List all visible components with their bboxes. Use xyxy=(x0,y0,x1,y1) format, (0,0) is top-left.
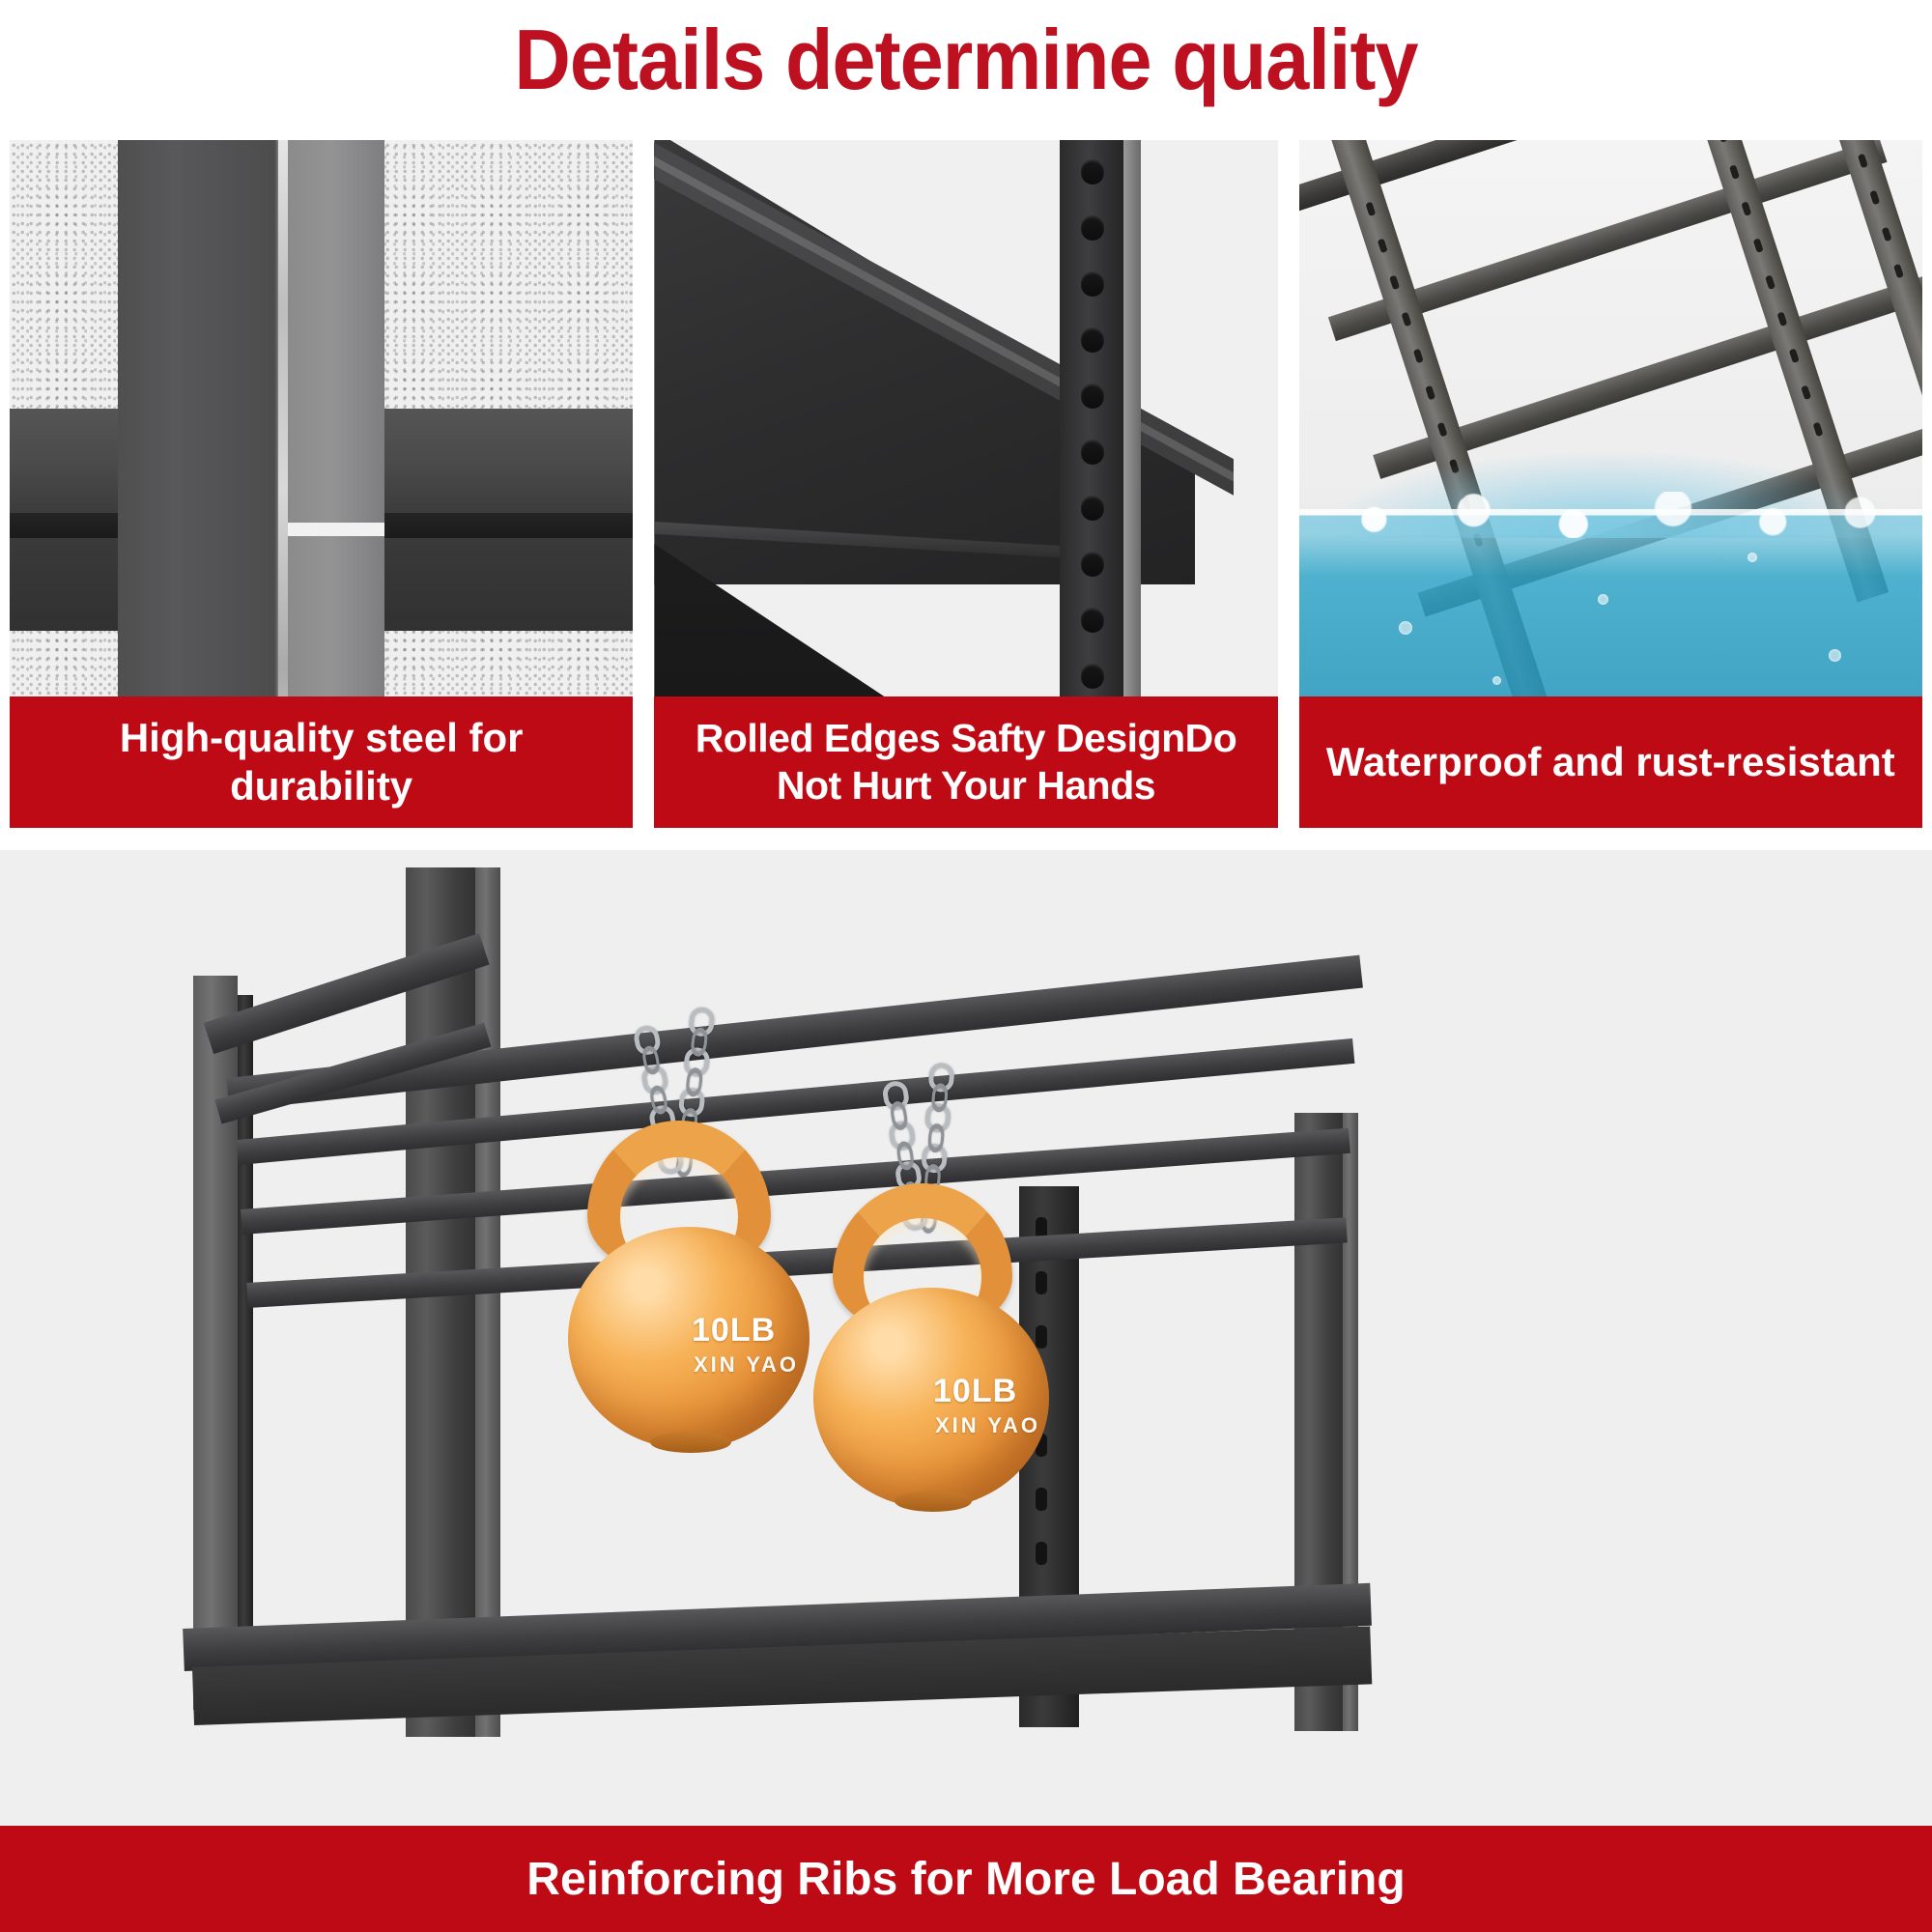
feature-panel-rolled-edges[interactable]: Rolled Edges Safty DesignDo Not Hurt You… xyxy=(654,140,1277,828)
kettlebell-right-weight: 10LB xyxy=(933,1373,1017,1410)
kettlebell-right-base xyxy=(895,1491,972,1512)
kettlebell-left-brand: XIN YAO xyxy=(694,1352,799,1378)
hero-rack-image: 10LB XIN YAO 10LB XIN YAO xyxy=(0,850,1932,1826)
feature-caption-waterproof: Waterproof and rust-resistant xyxy=(1299,696,1922,828)
kettlebell-right: 10LB XIN YAO xyxy=(802,1183,1092,1512)
feature-panel-row: High-quality steel for durability Rolled… xyxy=(0,140,1932,828)
feature-panel-waterproof[interactable]: Waterproof and rust-resistant xyxy=(1299,140,1922,828)
feature-panel-steel[interactable]: High-quality steel for durability xyxy=(10,140,633,828)
feature-caption-steel: High-quality steel for durability xyxy=(10,696,633,828)
rack-post-front-left-edge xyxy=(475,867,500,1737)
page-title: Details determine quality xyxy=(77,14,1855,107)
kettlebell-left-weight: 10LB xyxy=(692,1312,776,1350)
kettlebell-left-base xyxy=(650,1432,731,1453)
hero-banner: Reinforcing Ribs for More Load Bearing xyxy=(0,1826,1932,1932)
water-foam xyxy=(1299,492,1922,538)
product-detail-page: Details determine quality High-quality s… xyxy=(0,0,1932,1932)
kettlebell-right-brand: XIN YAO xyxy=(935,1413,1040,1438)
hero-banner-text: Reinforcing Ribs for More Load Bearing xyxy=(526,1853,1405,1906)
rack-post-front-left xyxy=(406,867,475,1737)
feature-caption-rolled-edges: Rolled Edges Safty DesignDo Not Hurt You… xyxy=(654,696,1277,828)
post-gap-highlight xyxy=(288,523,384,536)
hero-panel[interactable]: 10LB XIN YAO 10LB XIN YAO xyxy=(0,850,1932,1826)
